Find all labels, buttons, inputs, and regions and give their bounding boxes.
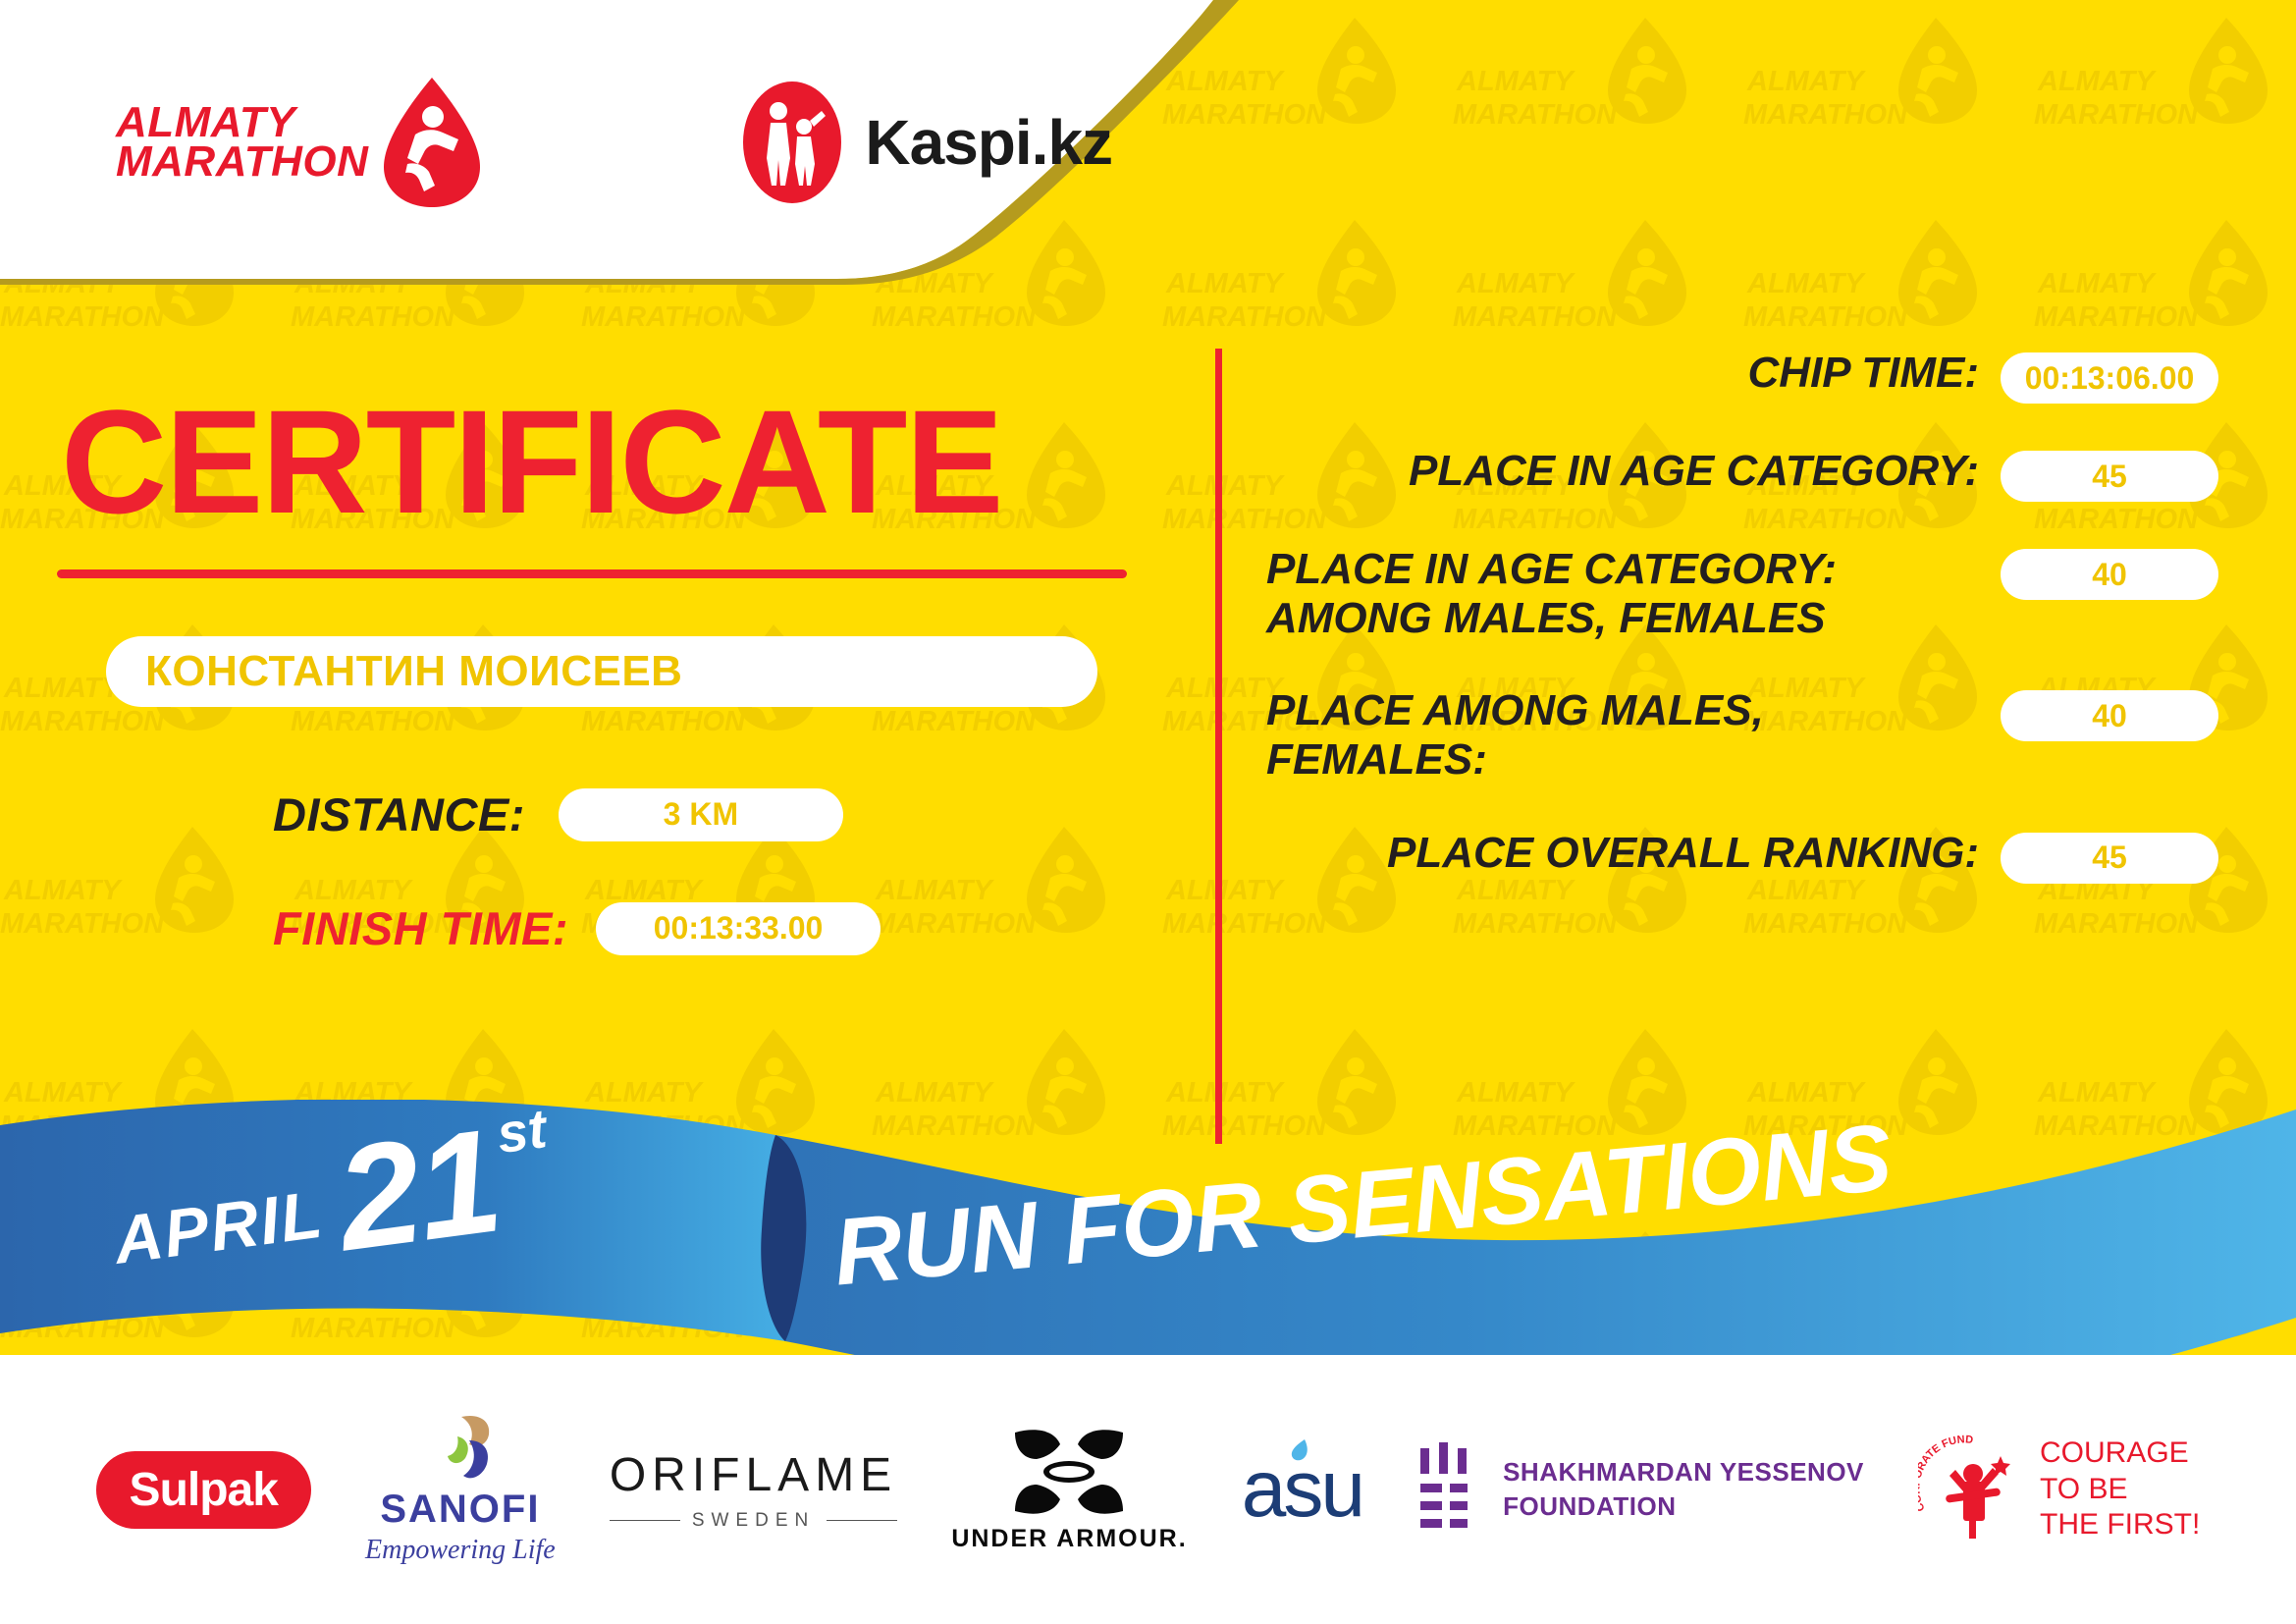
stat-label: PLACE OVERALL RANKING: [1266, 829, 2001, 878]
oriflame-country: SWEDEN [680, 1510, 827, 1532]
stat-value: 40 [2001, 690, 2218, 741]
oriflame-sub: SWEDEN [610, 1510, 897, 1532]
kaspi-people-icon [741, 80, 843, 205]
courage-fund-icon: CORPORATE FUND [1918, 1435, 2026, 1544]
distance-value: 3 KM [559, 788, 843, 841]
sanofi-wordmark: SANOFI [380, 1488, 540, 1532]
stat-label: PLACE AMONG MALES, FEMALES: [1266, 686, 2001, 785]
under-armour-wordmark: UNDER ARMOUR. [951, 1525, 1187, 1553]
stat-row: PLACE IN AGE CATEGORY: AMONG MALES, FEMA… [1266, 545, 2218, 643]
page-title: CERTIFICATE [61, 388, 1002, 535]
sulpak-logo: Sulpak [96, 1451, 311, 1529]
stat-label: CHIP TIME: [1266, 349, 2001, 398]
sanofi-tagline: Empowering Life [365, 1535, 556, 1566]
asu-droplet-icon [1283, 1437, 1316, 1471]
yessenov-wordmark: SHAKHMARDAN YESSENOV FOUNDATION [1503, 1455, 1864, 1524]
under-armour-icon [1007, 1427, 1131, 1517]
event-day: 21 [331, 1116, 506, 1263]
kaspi-wordmark: Kaspi.kz [865, 106, 1112, 179]
stat-value: 40 [2001, 549, 2218, 600]
almaty-marathon-wordmark: ALMATY MARATHON [116, 103, 368, 183]
brand-line-1: ALMATY [116, 103, 368, 142]
sponsor-sanofi: SANOFI Empowering Life [365, 1413, 556, 1566]
event-day-suffix: st [493, 1096, 550, 1165]
certificate-page: ALMATY MARATHON Kaspi.kz CERTI [0, 0, 2296, 1624]
stat-row: PLACE AMONG MALES, FEMALES:40 [1266, 686, 2218, 785]
oriflame-rule-right [827, 1520, 897, 1521]
courage-line-2: TO BE [2040, 1473, 2127, 1505]
finish-time-row: FINISH TIME: 00:13:33.00 [273, 901, 881, 955]
stat-label: PLACE IN AGE CATEGORY: AMONG MALES, FEMA… [1266, 545, 2001, 643]
stat-value: 45 [2001, 833, 2218, 884]
yessenov-line-1: SHAKHMARDAN YESSENOV [1503, 1457, 1864, 1487]
sanofi-mark-icon [418, 1413, 503, 1484]
yessenov-mark-icon [1416, 1442, 1481, 1537]
distance-label: DISTANCE: [273, 787, 525, 841]
stat-value: 00:13:06.00 [2001, 352, 2218, 404]
event-month: APRIL [110, 1176, 328, 1279]
stat-row: PLACE OVERALL RANKING:45 [1266, 829, 2218, 884]
title-underline [57, 569, 1127, 578]
courage-line-3: THE FIRST! [2040, 1508, 2200, 1541]
almaty-marathon-logo: ALMATY MARATHON [116, 74, 486, 211]
header-logos: ALMATY MARATHON Kaspi.kz [0, 0, 1178, 285]
distance-row: DISTANCE: 3 KM [273, 787, 843, 841]
sponsor-oriflame: ORIFLAME SWEDEN [610, 1448, 897, 1532]
finish-time-value: 00:13:33.00 [596, 902, 881, 955]
finish-time-label: FINISH TIME: [273, 901, 568, 955]
courage-line-1: COURAGE [2040, 1436, 2189, 1469]
participant-name-field: КОНСТАНТИН МОИСЕЕВ [106, 636, 1097, 707]
stat-row: PLACE IN AGE CATEGORY:45 [1266, 447, 2218, 502]
vertical-divider [1215, 349, 1222, 1144]
sponsor-asu: asu [1242, 1443, 1362, 1536]
runner-drop-icon [378, 74, 486, 211]
stats-column: CHIP TIME:00:13:06.00PLACE IN AGE CATEGO… [1266, 349, 2218, 927]
sponsor-sulpak: Sulpak [96, 1451, 311, 1529]
stat-label: PLACE IN AGE CATEGORY: [1266, 447, 2001, 496]
yessenov-line-2: FOUNDATION [1503, 1491, 1676, 1521]
kaspi-logo: Kaspi.kz [741, 80, 1112, 205]
sponsor-courage-fund: CORPORATE FUND COURAGE TO BE THE FIRST! [1918, 1435, 2200, 1544]
oriflame-wordmark: ORIFLAME [610, 1448, 897, 1502]
sponsor-under-armour: UNDER ARMOUR. [951, 1427, 1187, 1553]
oriflame-rule-left [610, 1520, 680, 1521]
stat-value: 45 [2001, 451, 2218, 502]
courage-wordmark: COURAGE TO BE THE FIRST! [2040, 1435, 2200, 1543]
stat-row: CHIP TIME:00:13:06.00 [1266, 349, 2218, 404]
sponsor-footer: Sulpak SANOFI Empowering Life ORIFLAME S… [0, 1355, 2296, 1624]
brand-line-2: MARATHON [116, 142, 368, 182]
sponsor-yessenov-foundation: SHAKHMARDAN YESSENOV FOUNDATION [1416, 1442, 1864, 1537]
